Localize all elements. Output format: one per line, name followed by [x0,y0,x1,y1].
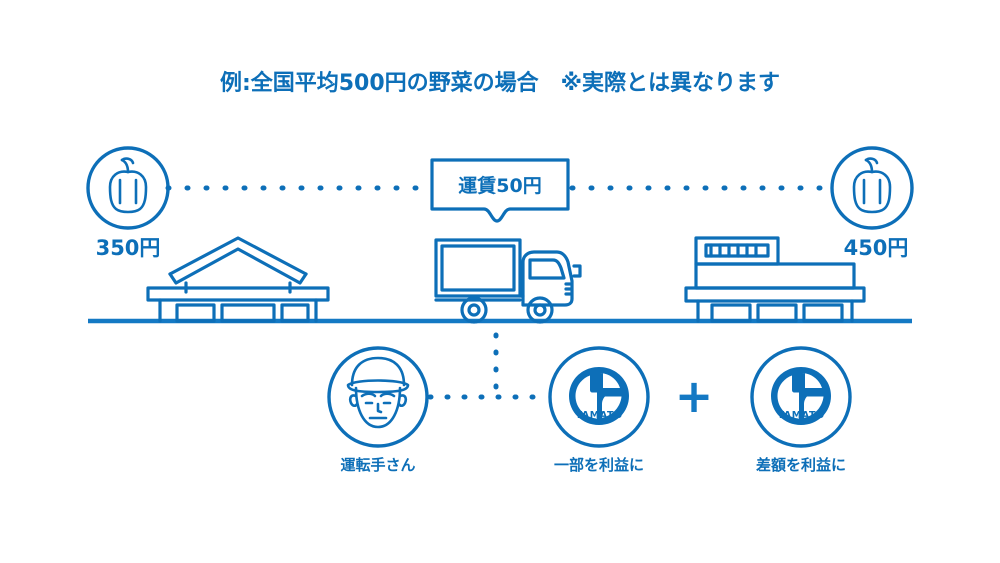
yamato-logo-icon: YAMATO [569,367,629,425]
farm-building-icon [148,238,328,321]
freight-bubble: 運賃50円 [432,160,568,221]
farm-price-label: 350円 [96,236,161,260]
delivery-truck-icon [436,240,580,322]
store-price-label: 450円 [844,236,909,260]
driver-face-icon [348,358,408,427]
farm-node: 350円 [88,148,168,260]
profit-share-caption: 一部を利益に [554,456,644,474]
yamato-logo-text: YAMATO [776,410,825,421]
yamato-logo-icon: YAMATO [771,367,831,425]
freight-bubble-label: 運賃50円 [458,174,541,197]
driver-circle [329,348,427,446]
driver-node: 運転手さん [329,348,427,474]
driver-caption: 運転手さん [340,456,415,474]
profit-share-node: YAMATO 一部を利益に [550,348,648,474]
bell-pepper-icon [110,159,146,212]
store-node: 450円 [832,148,912,260]
operator-node: YAMATO 差額を利益に [752,348,850,474]
infographic-canvas: 例:全国平均500円の野菜の場合 ※実際とは異なります 350円 450円 運賃… [0,0,1000,563]
operator-caption: 差額を利益に [756,456,846,474]
diagram-svg: 例:全国平均500円の野菜の場合 ※実際とは異なります 350円 450円 運賃… [0,0,1000,563]
yamato-logo-text: YAMATO [574,410,623,421]
plus-symbol: + [675,369,714,423]
store-building-icon [686,238,864,321]
page-title: 例:全国平均500円の野菜の場合 ※実際とは異なります [220,70,780,96]
bell-pepper-icon [854,159,890,212]
